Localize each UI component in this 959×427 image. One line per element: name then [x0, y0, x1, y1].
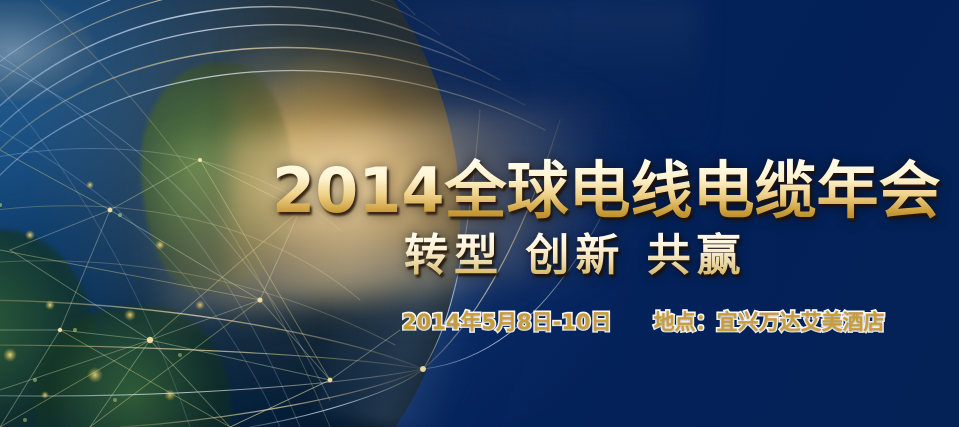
- banner-info-row: 2014年5月8日-10日 地点：宜兴万达艾美酒店: [402, 306, 885, 336]
- banner-subtitle: 转型 创新 共赢: [404, 231, 959, 281]
- event-date: 2014年5月8日-10日: [402, 306, 612, 336]
- banner-title: 2014全球电线电缆年会: [272, 157, 959, 225]
- conference-banner: 2014全球电线电缆年会 转型 创新 共赢 2014年5月8日-10日 地点：宜…: [0, 0, 959, 427]
- event-venue: 地点：宜兴万达艾美酒店: [654, 306, 885, 336]
